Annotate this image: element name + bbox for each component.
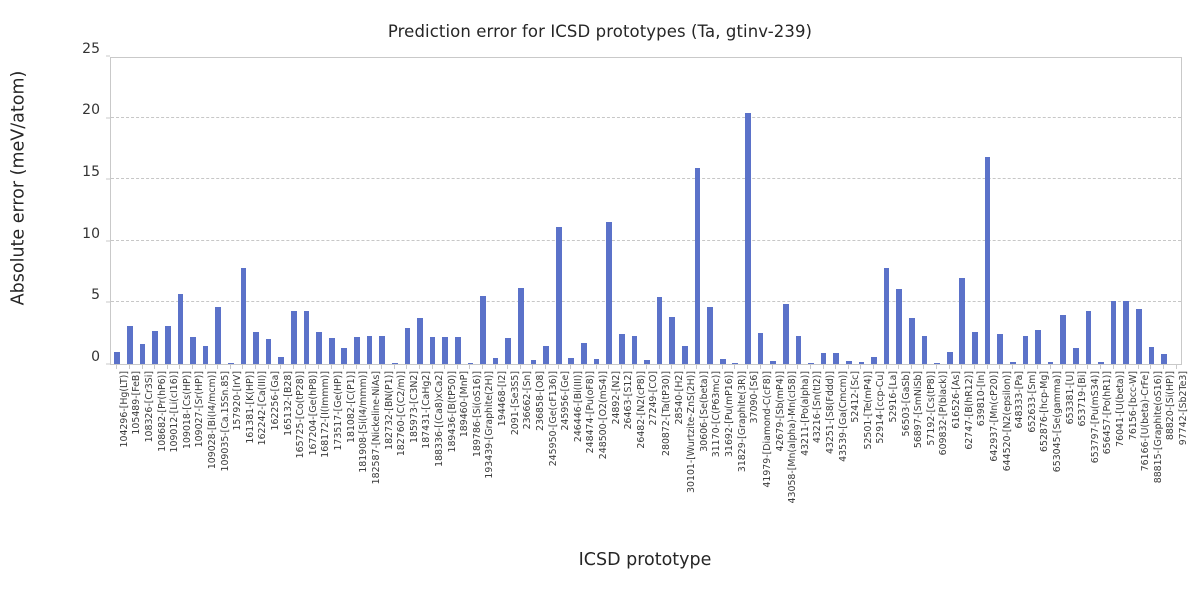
bar <box>644 360 650 364</box>
x-axis-tick-mark <box>1037 365 1038 369</box>
x-axis-tick-label: 57192-[Cs(tP8)] <box>927 371 936 446</box>
x-axis-tick-label: 182760-[C(C2/m)] <box>397 371 406 456</box>
x-axis-tick-label: 52914-[ccp-Cu] <box>876 371 885 444</box>
x-axis-tick-mark <box>142 365 143 369</box>
bar <box>808 363 814 364</box>
x-axis-tick-mark <box>936 365 937 369</box>
x-axis-tick-mark <box>205 365 206 369</box>
x-axis-tick-label: 162256-[Ga] <box>271 371 280 431</box>
x-axis-tick-label: 43216-[Sn(tI2)] <box>813 371 822 443</box>
x-axis-tick-label: 76041-[U(beta)] <box>1116 371 1125 447</box>
x-axis-tick-mark <box>495 365 496 369</box>
x-axis-tick-label: 52412-[Sc] <box>851 371 860 423</box>
x-axis-tick-mark <box>532 365 533 369</box>
bar <box>1010 362 1016 364</box>
x-axis-tick-mark <box>192 365 193 369</box>
bar <box>707 307 713 364</box>
bar <box>367 336 373 364</box>
x-axis-tick-mark <box>860 365 861 369</box>
x-axis-tick-mark <box>608 365 609 369</box>
x-axis-tick-mark <box>507 365 508 369</box>
x-axis-tick-label: 182587-[Nickeline-NiAs] <box>372 371 381 484</box>
bar <box>178 294 184 364</box>
bar <box>1048 362 1054 364</box>
bar <box>165 326 171 364</box>
x-axis-tick-mark <box>646 365 647 369</box>
x-axis-tick-mark <box>987 365 988 369</box>
x-axis-tick-mark <box>394 365 395 369</box>
bar <box>329 338 335 364</box>
y-axis-tick-label: 0 <box>91 349 100 365</box>
x-axis-tick-mark <box>558 365 559 369</box>
x-axis-tick-label: 185973-[C3N2] <box>410 371 419 443</box>
x-axis-tick-label: 194468-[I2] <box>498 371 507 426</box>
x-axis-tick-label: 31170-[C(P63mc)] <box>712 371 721 457</box>
x-axis-tick-label: 27249-[CO] <box>649 371 658 425</box>
x-axis-tick-label: 236662-[Sn] <box>523 371 532 429</box>
bar <box>632 336 638 364</box>
bar <box>770 361 776 364</box>
x-axis-tick-mark <box>823 365 824 369</box>
x-axis-tick-label: 236858-[O8] <box>536 371 545 431</box>
bar <box>468 363 474 364</box>
x-axis-tick-mark <box>785 365 786 369</box>
bar <box>430 337 436 364</box>
bar <box>480 296 486 364</box>
bar <box>354 337 360 364</box>
x-axis-tick-label: 2091-[Se3S5] <box>511 371 520 435</box>
x-axis-tick-label: 43251-[S8(Fddd)] <box>826 371 835 454</box>
bar <box>568 358 574 364</box>
x-axis-tick-label: 173517-[Ge(HP)] <box>334 371 343 451</box>
x-axis-tick-mark <box>810 365 811 369</box>
bar <box>972 332 978 364</box>
bar <box>203 346 209 364</box>
bar <box>959 278 965 364</box>
bar-series <box>111 58 1181 364</box>
bar <box>1149 347 1155 364</box>
bar <box>505 338 511 364</box>
bar <box>695 168 701 364</box>
bar <box>934 363 940 364</box>
x-axis-tick-mark <box>873 365 874 369</box>
bar <box>1086 311 1092 364</box>
x-axis-tick-label: 648333-[Pa] <box>1015 371 1024 428</box>
x-axis-tick-label: 182732-[BN(P1)] <box>385 371 394 450</box>
x-axis-tick-mark <box>217 365 218 369</box>
x-axis-tick-label: 609832-[P(black)] <box>939 371 948 455</box>
x-axis-tick-label: 26482-[N2(cP8)] <box>637 371 646 449</box>
x-axis-tick-label: 62747-[B(hR12)] <box>965 371 974 450</box>
bar <box>1035 330 1041 364</box>
x-axis-tick-label: 43058-[Mn(alpha)-Mn(cI58)] <box>788 371 797 503</box>
y-axis-ticks: 0510152025 <box>0 57 110 365</box>
x-axis-tick-label: 656457-[Po(hR1)] <box>1103 371 1112 454</box>
x-axis-tick-mark <box>369 365 370 369</box>
x-axis-tick-label: 642937-[Mn(cP20)] <box>990 371 999 462</box>
x-axis-tick-mark <box>1125 365 1126 369</box>
x-axis-tick-mark <box>949 365 950 369</box>
x-axis-tick-label: 31829-[Graphite(3R)] <box>738 371 747 472</box>
bar <box>657 297 663 364</box>
bar <box>341 348 347 364</box>
x-axis-tick-label: 28540-[H2] <box>675 371 684 425</box>
x-axis-tick-mark <box>797 365 798 369</box>
x-axis-tick-label: 181908-[Si(I4/mmm)] <box>359 371 368 473</box>
x-axis-tick-label: 248474-[Pu(oF8)] <box>586 371 595 453</box>
bar <box>1111 301 1117 364</box>
x-axis-tick-mark <box>1113 365 1114 369</box>
x-axis-tick-label: 109012-[Li(cI16)] <box>170 371 179 452</box>
x-axis-tick-label: 189460-[MnP] <box>460 371 469 437</box>
x-axis-tick-mark <box>1138 365 1139 369</box>
bar <box>1073 348 1079 364</box>
x-axis-tick-label: 616526-[As] <box>952 371 961 429</box>
bar <box>669 317 675 364</box>
bar <box>253 332 259 364</box>
x-axis-tick-mark <box>280 365 281 369</box>
x-axis-tick-label: 52916-[La] <box>889 371 898 423</box>
x-axis-tick-mark <box>381 365 382 369</box>
x-axis-tick-label: 109035-[Ca.15Sn.85] <box>221 371 230 472</box>
x-axis-tick-label: 104296-[Hg(LT)] <box>120 371 129 447</box>
bar <box>228 363 234 364</box>
bar <box>783 304 789 364</box>
x-axis-tick-mark <box>722 365 723 369</box>
x-axis-tick-mark <box>545 365 546 369</box>
x-axis-tick-mark <box>469 365 470 369</box>
x-axis-tick-label: 181082-[C(P1)] <box>347 371 356 443</box>
x-axis-tick-label: 165132-[B28] <box>284 371 293 436</box>
x-axis-tick-label: 653381-[U] <box>1066 371 1075 424</box>
x-axis-tick-label: 43539-[Ga(Cmcm)] <box>839 371 848 462</box>
x-axis-tick-label: 245956-[Ge] <box>561 371 570 431</box>
x-axis-tick-mark <box>596 365 597 369</box>
bar <box>682 346 688 364</box>
chart-figure: Prediction error for ICSD prototypes (Ta… <box>0 0 1200 600</box>
bar <box>1136 309 1142 364</box>
x-axis-tick-mark <box>356 365 357 369</box>
x-axis-tick-mark <box>1024 365 1025 369</box>
x-axis-tick-mark <box>848 365 849 369</box>
x-axis-tick-mark <box>520 365 521 369</box>
x-axis-tick-label: 652876-[hcp-Mg] <box>1040 371 1049 452</box>
bar <box>531 360 537 364</box>
bar <box>152 331 158 364</box>
y-axis-tick-label: 5 <box>91 287 100 303</box>
x-axis-tick-mark <box>1012 365 1013 369</box>
x-axis-tick-mark <box>230 365 231 369</box>
x-axis-tick-mark <box>406 365 407 369</box>
x-axis-tick-label: 653045-[Se(gamma)] <box>1053 371 1062 472</box>
x-axis-tick-label: 187431-[CaHg2] <box>422 371 431 449</box>
x-axis-tick-label: 105489-[FeB] <box>132 371 141 435</box>
x-axis-tick-label: 88820-[Si(HP)] <box>1166 371 1175 440</box>
x-axis-tick-mark <box>659 365 660 369</box>
y-axis-tick-label: 10 <box>82 226 100 242</box>
bar <box>241 268 247 364</box>
x-axis-tick-mark <box>621 365 622 369</box>
x-axis-tick-label: 88815-[Graphite(oS16)] <box>1154 371 1163 483</box>
bar <box>833 353 839 364</box>
bar <box>720 359 726 364</box>
x-axis-tick-mark <box>293 365 294 369</box>
bar <box>316 332 322 364</box>
x-axis-tick-label: 280872-[Ta(tP30)] <box>662 371 671 456</box>
x-axis-tick-mark <box>570 365 571 369</box>
bar <box>190 337 196 364</box>
x-axis-tick-label: 109027-[Sr(HP)] <box>195 371 204 447</box>
x-axis-tick-label: 37090-[S6] <box>750 371 759 423</box>
x-axis-tick-mark <box>760 365 761 369</box>
bar <box>985 157 991 364</box>
bar <box>581 343 587 364</box>
x-axis-tick-labels: 104296-[Hg(LT)]105489-[FeB]108326-[Cr3Si… <box>110 371 1182 546</box>
bar <box>997 334 1003 364</box>
x-axis-tick-label: 108682-[Pr(hP6)] <box>158 371 167 452</box>
x-axis-tick-mark <box>999 365 1000 369</box>
bar <box>392 363 398 364</box>
x-axis-tick-mark <box>179 365 180 369</box>
x-axis-tick-label: 56503-[GaSb] <box>902 371 911 436</box>
x-axis-tick-mark <box>432 365 433 369</box>
x-axis-tick-mark <box>747 365 748 369</box>
bar <box>455 337 461 364</box>
bar <box>796 336 802 364</box>
bar <box>1123 301 1129 364</box>
x-axis-tick-label: 157920-[IrV] <box>233 371 242 431</box>
x-axis-tick-mark <box>1176 365 1177 369</box>
x-axis-tick-mark <box>154 365 155 369</box>
bar <box>543 346 549 364</box>
bar <box>871 357 877 364</box>
bar <box>922 336 928 364</box>
x-axis-tick-label: 97742-[Sb2Te3] <box>1179 371 1188 445</box>
x-axis-tick-label: 652633-[Sm] <box>1028 371 1037 433</box>
x-axis-tick-mark <box>974 365 975 369</box>
bar <box>859 362 865 364</box>
y-axis-tick-label: 25 <box>82 41 100 57</box>
x-axis-title: ICSD prototype <box>110 550 1180 570</box>
bar <box>114 352 120 364</box>
bar <box>215 307 221 364</box>
x-axis-tick-mark <box>305 365 306 369</box>
bar <box>1098 362 1104 364</box>
bar <box>266 339 272 364</box>
bar <box>758 333 764 364</box>
x-axis-tick-mark <box>419 365 420 369</box>
x-axis-tick-label: 161381-[K(HP)] <box>246 371 255 444</box>
x-axis-tick-label: 76166-[U(beta)-CrFe] <box>1141 371 1150 471</box>
x-axis-tick-mark <box>671 365 672 369</box>
x-axis-tick-mark <box>923 365 924 369</box>
bar <box>127 326 133 364</box>
bar <box>947 352 953 364</box>
x-axis-tick-mark <box>482 365 483 369</box>
x-axis-tick-label: 31692-[Pu(mP16)] <box>725 371 734 457</box>
x-axis-tick-label: 108326-[Cr3Si] <box>145 371 154 442</box>
bar <box>1060 315 1066 364</box>
x-axis-tick-mark <box>129 365 130 369</box>
x-axis-tick-mark <box>898 365 899 369</box>
x-axis-tick-label: 30606-[Se(beta)] <box>700 371 709 452</box>
x-axis-tick-label: 52501-[Te(mP4)] <box>864 371 873 450</box>
x-axis-tick-label: 245950-[Ge(cF136)] <box>549 371 558 466</box>
x-axis-tick-label: 168172-[I(Immm)] <box>321 371 330 458</box>
x-axis-tick-mark <box>242 365 243 369</box>
x-axis-tick-label: 109028-[Bi(I4/mcm)] <box>208 371 217 469</box>
x-axis-tick-mark <box>583 365 584 369</box>
bar <box>556 227 562 364</box>
x-axis-tick-mark <box>1075 365 1076 369</box>
page-title: Prediction error for ICSD prototypes (Ta… <box>0 22 1200 41</box>
x-axis-tick-mark <box>457 365 458 369</box>
bar <box>518 288 524 364</box>
x-axis-tick-mark <box>255 365 256 369</box>
bar <box>278 357 284 364</box>
x-axis-tick-mark <box>709 365 710 369</box>
bar <box>417 318 423 364</box>
x-axis-tick-mark <box>835 365 836 369</box>
x-axis-tick-mark <box>1087 365 1088 369</box>
y-axis-tick-label: 20 <box>82 102 100 118</box>
bar <box>606 222 612 364</box>
x-axis-tick-mark <box>696 365 697 369</box>
bar <box>619 334 625 364</box>
x-axis-tick-label: 653797-[Pu(mS34)] <box>1091 371 1100 463</box>
x-axis-tick-label: 248500-[O2(mS4)] <box>599 371 608 459</box>
x-axis-tick-label: 109018-[Cs(HP)] <box>183 371 192 449</box>
x-axis-tick-label: 56897-[SmNiSb] <box>914 371 923 448</box>
bar <box>884 268 890 364</box>
x-axis-tick-label: 43211-[Po(alpha)] <box>801 371 810 456</box>
x-axis-tick-mark <box>961 365 962 369</box>
x-axis-tick-mark <box>734 365 735 369</box>
bar <box>821 353 827 364</box>
x-axis-tick-mark <box>633 365 634 369</box>
x-axis-tick-mark <box>1150 365 1151 369</box>
bar <box>1023 336 1029 364</box>
x-axis-tick-label: 188336-[(Ca8)xCa2] <box>435 371 444 467</box>
x-axis-tick-mark <box>886 365 887 369</box>
bar <box>846 361 852 364</box>
bar <box>909 318 915 364</box>
bar <box>493 358 499 364</box>
bar <box>140 344 146 364</box>
bar <box>405 328 411 364</box>
x-axis-tick-mark <box>684 365 685 369</box>
bar <box>594 359 600 364</box>
x-axis-tick-label: 189436-[B(tP50)] <box>448 371 457 453</box>
x-axis-tick-mark <box>331 365 332 369</box>
bar <box>442 337 448 364</box>
bar <box>291 311 297 364</box>
x-axis-tick-label: 26463-[S12] <box>624 371 633 429</box>
bar <box>379 336 385 364</box>
x-axis-tick-label: 24892-[N2] <box>612 371 621 425</box>
x-axis-tick-mark <box>911 365 912 369</box>
x-axis-tick-label: 644520-[N2(epsilon)] <box>1003 371 1012 471</box>
x-axis-tick-label: 189786-[Si(oS16)] <box>473 371 482 457</box>
x-axis-tick-mark <box>1050 365 1051 369</box>
y-axis-tick-label: 15 <box>82 164 100 180</box>
x-axis-tick-label: 41979-[Diamond-C(cF8)] <box>763 371 772 488</box>
x-axis-tick-label: 167204-[Ge(hP8)] <box>309 371 318 455</box>
x-axis-tick-label: 165725-[Co(tP28)] <box>296 371 305 458</box>
x-axis-tick-label: 162242-[Ca(III)] <box>258 371 267 445</box>
x-axis-tick-mark <box>1100 365 1101 369</box>
x-axis-tick-mark <box>167 365 168 369</box>
x-axis-tick-mark <box>772 365 773 369</box>
bar <box>304 311 310 364</box>
x-axis-tick-label: 639810-[In] <box>977 371 986 426</box>
x-axis-tick-mark <box>268 365 269 369</box>
x-axis-tick-label: 193439-[Graphite(2H)] <box>485 371 494 479</box>
x-axis-tick-label: 76156-[bcc-W] <box>1129 371 1138 440</box>
plot-area <box>110 57 1182 365</box>
x-axis-tick-mark <box>1062 365 1063 369</box>
bar <box>732 363 738 364</box>
x-axis-tick-mark <box>116 365 117 369</box>
x-axis-tick-mark <box>318 365 319 369</box>
x-axis-tick-label: 246446-[Bi(III)] <box>574 371 583 442</box>
x-axis-tick-label: 653719-[Bi] <box>1078 371 1087 427</box>
bar <box>1161 354 1167 364</box>
x-axis-tick-mark <box>1163 365 1164 369</box>
bar <box>896 289 902 364</box>
x-axis-tick-mark <box>444 365 445 369</box>
x-axis-tick-label: 30101-[Wurtzite-ZnS(2H)] <box>687 371 696 493</box>
x-axis-tick-label: 42679-[Sb(mP4)] <box>776 371 785 452</box>
x-axis-tick-mark <box>343 365 344 369</box>
bar <box>745 113 751 364</box>
